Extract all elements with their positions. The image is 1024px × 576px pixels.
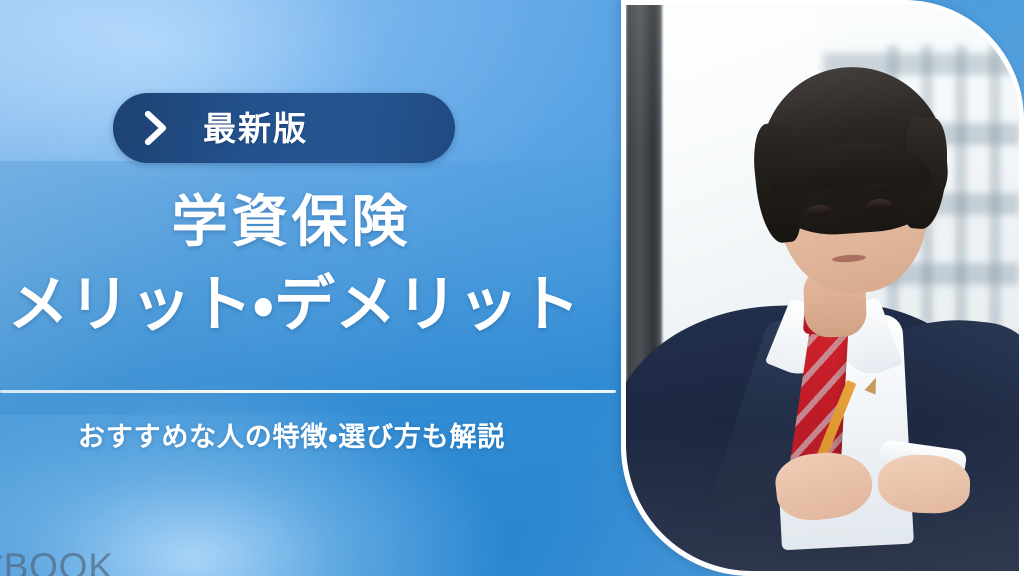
page-subtitle: おすすめな人の特徴・選び方も解説 bbox=[0, 421, 583, 453]
page-title-line2: メリット・デメリット bbox=[0, 272, 614, 338]
banner-image: 最新版 学資保険 メリット・デメリット おすすめな人の特徴・選び方も解説 険BO… bbox=[0, 0, 1024, 576]
divider bbox=[0, 390, 616, 393]
site-logo-watermark: 険BOOK bbox=[0, 536, 114, 576]
hero-photo bbox=[621, 0, 1024, 576]
chevron-right-icon bbox=[143, 111, 169, 145]
latest-version-badge[interactable]: 最新版 bbox=[113, 93, 455, 163]
hero-photo-inner bbox=[626, 5, 1019, 571]
badge-label: 最新版 bbox=[203, 112, 308, 145]
copy-block: 最新版 学資保険 メリット・デメリット おすすめな人の特徴・選び方も解説 険BO… bbox=[0, 0, 622, 576]
photo-hand-resting bbox=[877, 453, 971, 514]
page-title-line1: 学資保険 bbox=[0, 192, 583, 252]
